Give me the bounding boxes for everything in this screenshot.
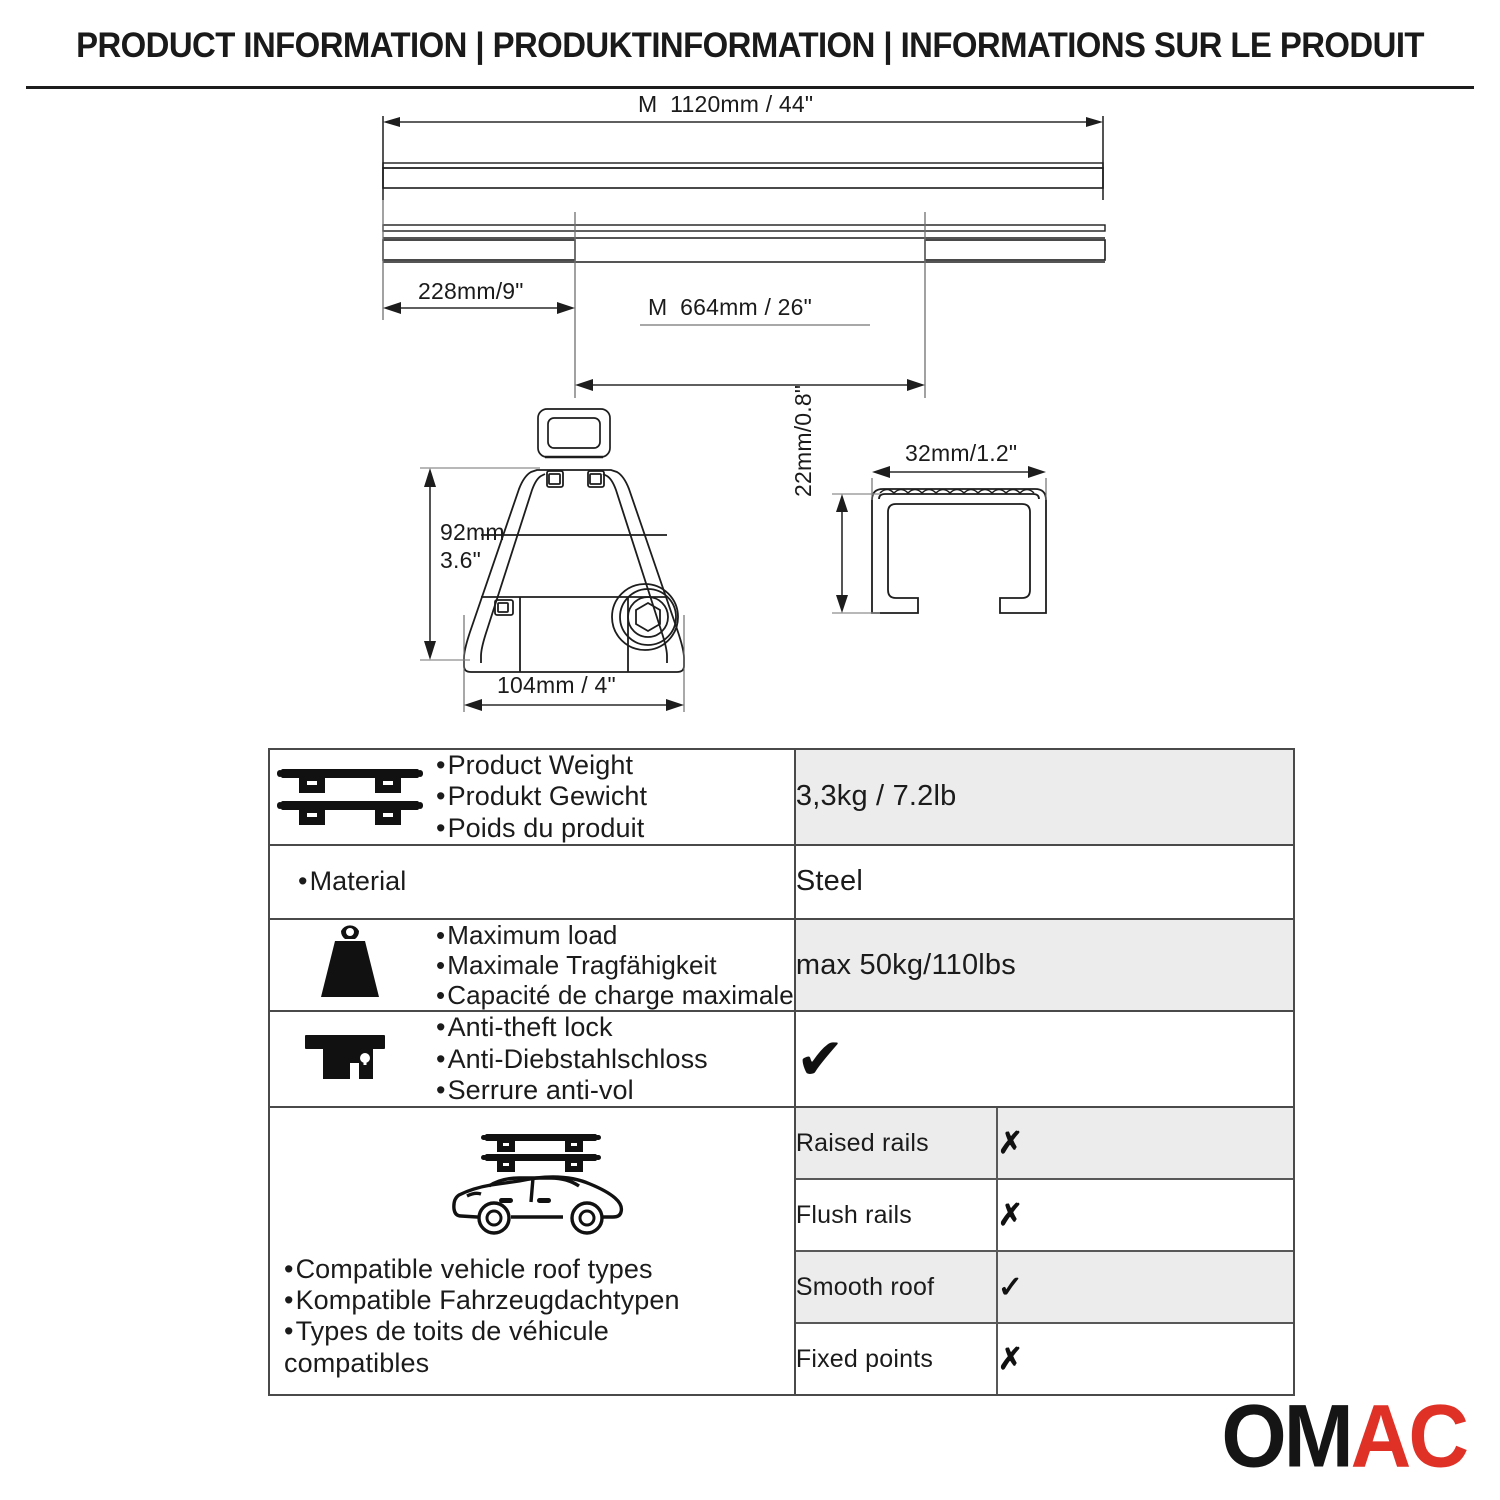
table-row: Material Steel (269, 845, 1294, 919)
label-group: Maximum load Maximale Tragfähigkeit Capa… (436, 920, 794, 1010)
roof-type-row: Flush rails ✗ (796, 1179, 1293, 1251)
roof-type-name: Smooth roof (796, 1251, 997, 1323)
row-value-material: Steel (795, 845, 1294, 919)
roof-type-row: Fixed points ✗ (796, 1323, 1293, 1394)
weight-icon (270, 925, 430, 1005)
table-row: Anti-theft lock Anti-Diebstahlschloss Se… (269, 1011, 1294, 1107)
roof-types-table: Raised rails ✗ Flush rails ✗ Smooth roof… (796, 1108, 1293, 1394)
drawing-vectors (0, 0, 1500, 740)
dim-foot-width: 104mm / 4" (497, 672, 616, 699)
roof-type-name: Flush rails (796, 1179, 997, 1251)
roof-type-row: Smooth roof ✓ (796, 1251, 1293, 1323)
omac-logo: OMAC (1221, 1391, 1466, 1480)
technical-drawing: M1120mm / 44" (0, 0, 1500, 740)
label-group: Product Weight Produkt Gewicht Poids du … (436, 750, 647, 844)
dim-foot-offset: 228mm/9" (418, 278, 524, 305)
logo-text-om: OM (1221, 1386, 1350, 1486)
roof-type-row: Raised rails ✗ (796, 1108, 1293, 1179)
dim-profile-height: 22mm/0.8" (790, 385, 817, 497)
roof-type-mark: ✓ (997, 1251, 1293, 1323)
row-label-material: Material (269, 845, 795, 919)
roof-types-subtable-cell: Raised rails ✗ Flush rails ✗ Smooth roof… (795, 1107, 1294, 1395)
label-group: Compatible vehicle roof types Kompatible… (284, 1254, 680, 1379)
label-group: Material (270, 866, 406, 897)
checkmark-icon: ✔ (796, 1025, 845, 1093)
row-label-product-weight: Product Weight Produkt Gewicht Poids du … (269, 749, 795, 845)
dim-profile-width: 32mm/1.2" (905, 440, 1017, 467)
roof-type-name: Fixed points (796, 1323, 997, 1394)
table-row: Product Weight Produkt Gewicht Poids du … (269, 749, 1294, 845)
row-label-anti-theft-lock: Anti-theft lock Anti-Diebstahlschloss Se… (269, 1011, 795, 1107)
row-label-compatible-roof-types: Compatible vehicle roof types Kompatible… (269, 1107, 795, 1395)
car-with-roof-rack-icon (439, 1124, 639, 1244)
roof-type-mark: ✗ (997, 1108, 1293, 1179)
table-row: Maximum load Maximale Tragfähigkeit Capa… (269, 919, 1294, 1011)
table-row: Compatible vehicle roof types Kompatible… (269, 1107, 1294, 1395)
dim-bar-span: M664mm / 26" (648, 294, 812, 321)
label-group: Anti-theft lock Anti-Diebstahlschloss Se… (436, 1012, 708, 1106)
roof-type-mark: ✗ (997, 1323, 1293, 1394)
row-value-product-weight: 3,3kg / 7.2lb (795, 749, 1294, 845)
row-value-anti-theft-lock: ✔ (795, 1011, 1294, 1107)
dim-foot-height: 92mm 3.6" (440, 518, 505, 574)
logo-text-ac: AC (1351, 1386, 1466, 1486)
specification-table: Product Weight Produkt Gewicht Poids du … (268, 748, 1295, 1396)
roof-bars-icon (270, 761, 430, 833)
roof-type-mark: ✗ (997, 1179, 1293, 1251)
row-value-maximum-load: max 50kg/110lbs (795, 919, 1294, 1011)
row-label-maximum-load: Maximum load Maximale Tragfähigkeit Capa… (269, 919, 795, 1011)
roof-type-name: Raised rails (796, 1108, 997, 1179)
lock-icon (270, 1023, 430, 1095)
product-information-sheet: PRODUCT INFORMATION | PRODUKTINFORMATION… (0, 0, 1500, 1500)
